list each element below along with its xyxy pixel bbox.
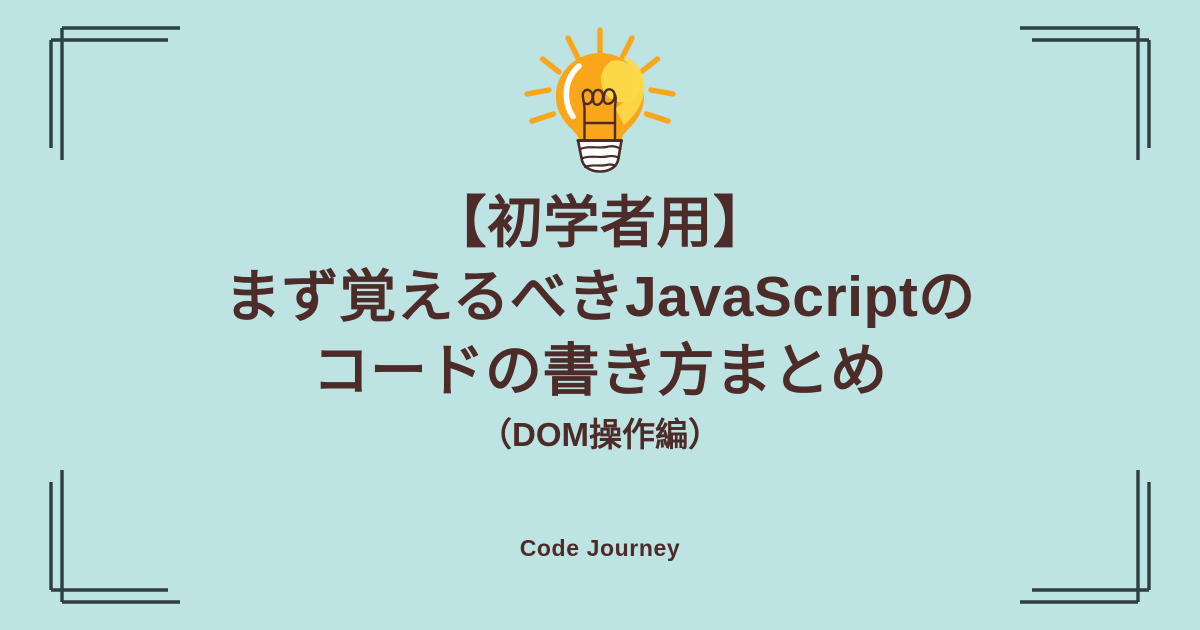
page-title-line-3: コードの書き方まとめ bbox=[0, 334, 1200, 408]
corner-bracket-top-left bbox=[44, 22, 184, 162]
page-title-line-1: 【初学者用】 bbox=[0, 186, 1200, 260]
corner-bracket-top-right bbox=[1016, 22, 1156, 162]
page-title: 【初学者用】 まず覚えるべきJavaScriptの コードの書き方まとめ bbox=[0, 186, 1200, 408]
page-subtitle: （DOM操作編） bbox=[0, 414, 1200, 456]
thumbnail-card: 【初学者用】 まず覚えるべきJavaScriptの コードの書き方まとめ （DO… bbox=[0, 0, 1200, 630]
lightbulb-icon bbox=[505, 22, 695, 177]
brand-name: Code Journey bbox=[0, 535, 1200, 562]
page-title-line-2: まず覚えるべきJavaScriptの bbox=[0, 260, 1200, 334]
text-block: 【初学者用】 まず覚えるべきJavaScriptの コードの書き方まとめ （DO… bbox=[0, 186, 1200, 456]
